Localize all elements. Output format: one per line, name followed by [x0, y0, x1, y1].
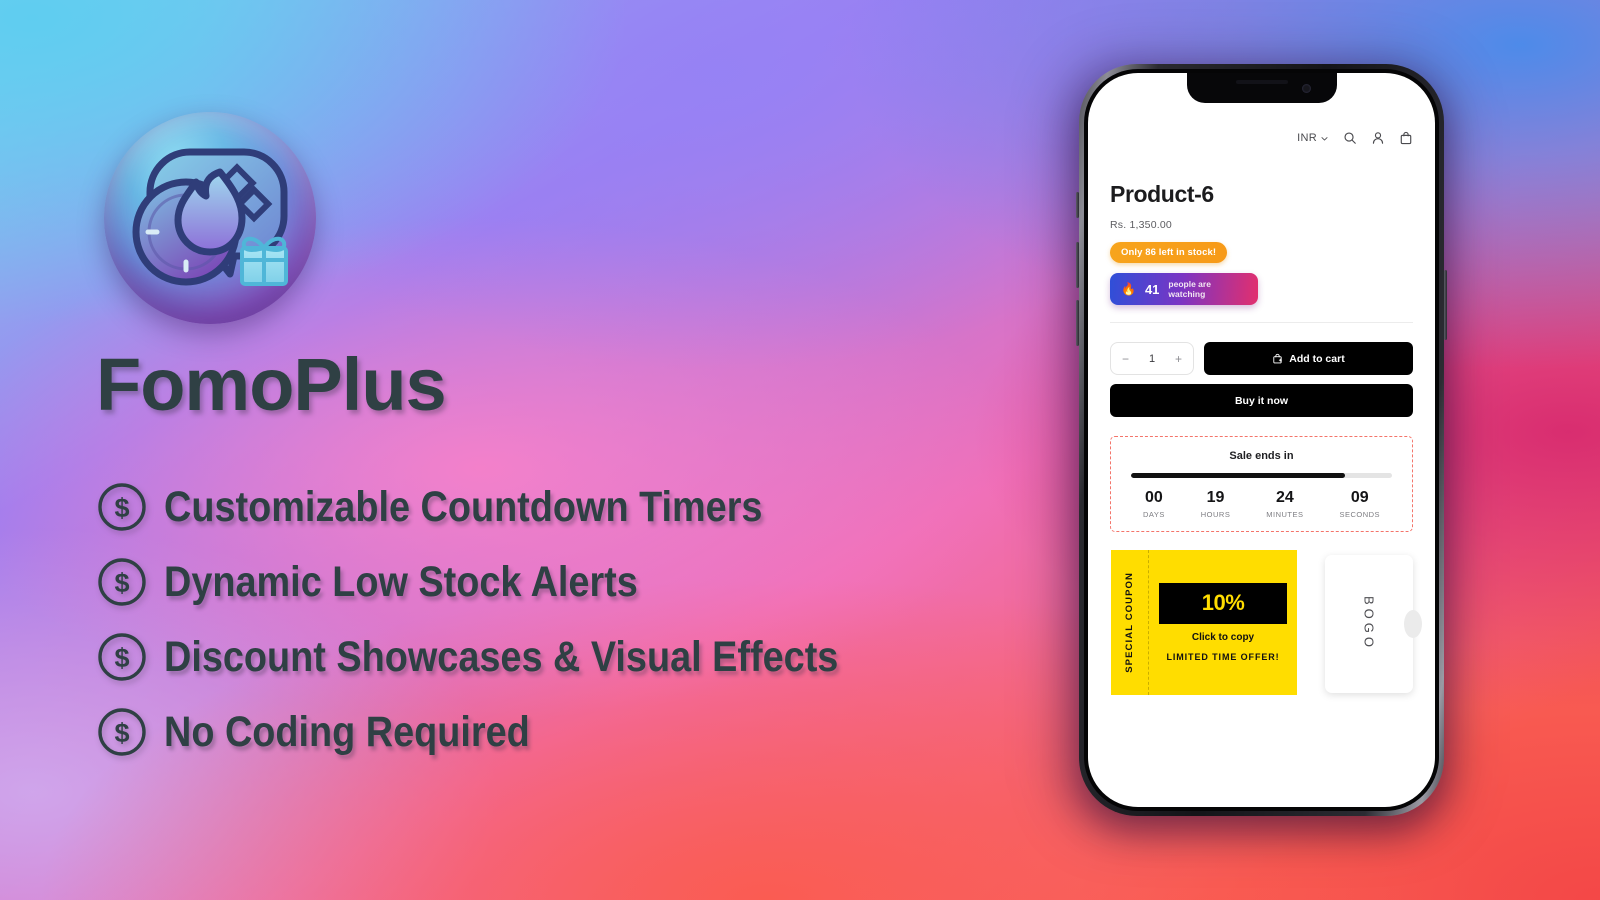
feature-item: $ Discount Showcases & Visual Effects: [96, 620, 996, 694]
countdown-label: HOURS: [1201, 510, 1231, 519]
coupon-stub: SPECIAL COUPON: [1111, 550, 1149, 695]
coupon-bogo-label: BOGO: [1362, 596, 1377, 651]
add-to-cart-label: Add to cart: [1289, 353, 1344, 365]
phone-volume-up-button: [1076, 242, 1079, 288]
countdown-unit-seconds: 09 SECONDS: [1339, 489, 1380, 519]
countdown-label: DAYS: [1143, 510, 1165, 519]
quantity-increase-button[interactable]: +: [1175, 352, 1182, 366]
countdown-label: SECONDS: [1339, 510, 1380, 519]
currency-label: INR: [1297, 132, 1317, 144]
coupon-note: LIMITED TIME OFFER!: [1166, 652, 1279, 662]
fomoplus-logo: [104, 112, 316, 324]
product-title: Product-6: [1110, 181, 1413, 208]
flame-icon: 🔥: [1121, 283, 1136, 295]
quantity-value: 1: [1149, 353, 1155, 365]
people-watching-badge: 🔥 41 people are watching: [1110, 273, 1258, 305]
coupon-body: 10% Click to copy LIMITED TIME OFFER!: [1149, 550, 1297, 695]
phone-volume-down-button: [1076, 300, 1079, 346]
quantity-decrease-button[interactable]: −: [1122, 352, 1129, 366]
phone-bezel: INR: [1084, 69, 1439, 811]
phone-power-button: [1444, 270, 1447, 340]
feature-label: Discount Showcases & Visual Effects: [164, 633, 838, 682]
feature-item: $ No Coding Required: [96, 695, 996, 769]
feature-label: Dynamic Low Stock Alerts: [164, 558, 638, 607]
quantity-stepper[interactable]: − 1 +: [1110, 342, 1194, 375]
feature-item: $ Customizable Countdown Timers: [96, 470, 996, 544]
coupon-copy-action[interactable]: Click to copy: [1192, 632, 1254, 643]
earpiece-speaker: [1236, 80, 1288, 84]
feature-item: $ Dynamic Low Stock Alerts: [96, 545, 996, 619]
watching-count: 41: [1145, 282, 1159, 297]
low-stock-badge: Only 86 left in stock!: [1110, 242, 1227, 263]
phone-mockup: INR: [1079, 64, 1444, 816]
dollar-circle-icon: $: [96, 481, 148, 533]
phone-mute-button: [1076, 192, 1079, 218]
countdown-timer: Sale ends in 00 DAYS 19 HOURS: [1110, 436, 1413, 532]
countdown-units: 00 DAYS 19 HOURS 24 MINUTES 09: [1125, 489, 1398, 519]
cart-plus-icon: [1272, 353, 1283, 364]
countdown-progress-fill: [1131, 473, 1345, 478]
store-header: INR: [1110, 125, 1413, 151]
phone-notch: [1187, 73, 1337, 103]
chevron-down-icon: [1320, 134, 1329, 143]
coupon-stub-label: SPECIAL COUPON: [1124, 572, 1135, 673]
store-page-content: INR: [1088, 73, 1435, 807]
currency-selector[interactable]: INR: [1297, 132, 1329, 144]
feature-list: $ Customizable Countdown Timers $ Dynami…: [96, 470, 996, 769]
phone-screen: INR: [1088, 73, 1435, 807]
coupon-carousel: BOGO SPECIAL COUPON 10% Click to copy LI…: [1110, 550, 1413, 698]
front-camera-icon: [1302, 84, 1311, 93]
section-divider: [1110, 322, 1413, 323]
feature-label: No Coding Required: [164, 708, 530, 757]
countdown-unit-days: 00 DAYS: [1143, 489, 1165, 519]
countdown-progress-bar: [1131, 473, 1392, 478]
dollar-circle-icon: $: [96, 706, 148, 758]
page-title: FomoPlus: [96, 342, 446, 427]
countdown-unit-minutes: 24 MINUTES: [1266, 489, 1303, 519]
countdown-value: 24: [1266, 489, 1303, 507]
buy-it-now-button[interactable]: Buy it now: [1110, 384, 1413, 417]
svg-text:$: $: [114, 643, 129, 673]
countdown-value: 09: [1339, 489, 1380, 507]
coupon-card-special[interactable]: SPECIAL COUPON 10% Click to copy LIMITED…: [1111, 550, 1297, 695]
search-icon[interactable]: [1343, 131, 1357, 145]
shopping-bag-icon[interactable]: [1399, 131, 1413, 145]
feature-label: Customizable Countdown Timers: [164, 483, 762, 532]
coupon-notch: [1404, 610, 1422, 638]
svg-text:$: $: [114, 568, 129, 598]
coupon-discount-value: 10%: [1159, 583, 1287, 624]
left-panel: FomoPlus $ Customizable Countdown Timers…: [0, 0, 1050, 900]
dollar-circle-icon: $: [96, 631, 148, 683]
countdown-value: 00: [1143, 489, 1165, 507]
svg-text:$: $: [114, 718, 129, 748]
countdown-label: MINUTES: [1266, 510, 1303, 519]
watching-text: people are watching: [1168, 279, 1247, 299]
countdown-unit-hours: 19 HOURS: [1201, 489, 1231, 519]
add-to-cart-button[interactable]: Add to cart: [1204, 342, 1413, 375]
countdown-value: 19: [1201, 489, 1231, 507]
coupon-card-bogo[interactable]: BOGO: [1325, 555, 1413, 693]
product-price: Rs. 1,350.00: [1110, 219, 1413, 231]
svg-text:$: $: [114, 493, 129, 523]
dollar-circle-icon: $: [96, 556, 148, 608]
person-icon[interactable]: [1371, 131, 1385, 145]
purchase-row: − 1 + Add to cart: [1110, 342, 1413, 375]
countdown-title: Sale ends in: [1125, 450, 1398, 462]
